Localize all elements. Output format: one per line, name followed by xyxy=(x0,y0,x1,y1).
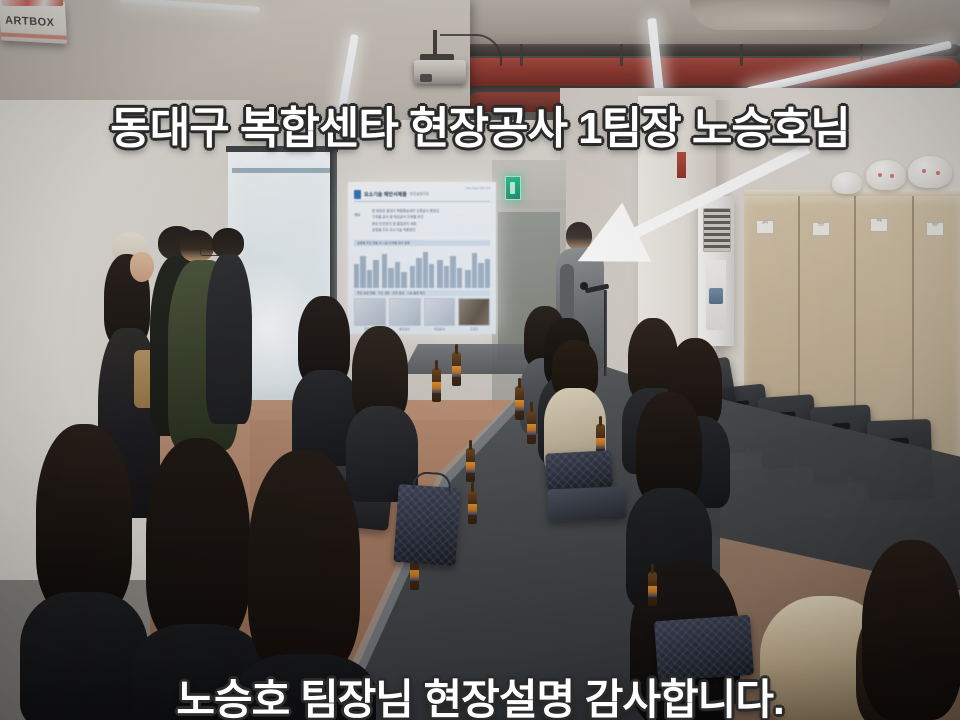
caption-top: 동대구 복합센타 현장공사 1팀장 노승호님 xyxy=(0,92,960,156)
caption-bottom: 노승호 팀장님 현장설명 감사합니다. xyxy=(0,666,960,720)
photo-canvas: 요소기술 제안서제출 현장설명자료 One Stop 2017.03 개요 본 … xyxy=(0,0,960,720)
